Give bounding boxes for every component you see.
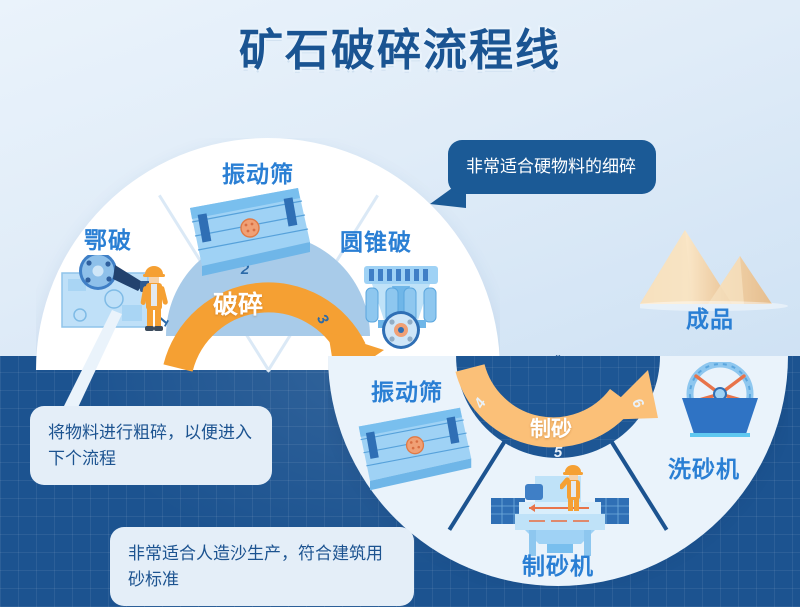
cone-crusher-icon — [352, 262, 450, 350]
callout-sand-making-text: 非常适合人造沙生产，符合建筑用砂标准 — [128, 544, 383, 589]
page-title: 矿石破碎流程线 — [0, 14, 800, 78]
callout-sand-making: 非常适合人造沙生产，符合建筑用砂标准 — [110, 527, 414, 606]
sand-pile-icon — [640, 222, 790, 312]
callout-cone-crusher-text: 非常适合硬物料的细碎 — [466, 157, 636, 176]
step-label-cone-crusher: 圆锥破 — [340, 223, 412, 257]
callout-cone-crusher: 非常适合硬物料的细碎 — [448, 140, 656, 194]
infographic-canvas: 矿石破碎流程线 成品 破碎 1 2 3 鄂破 — [0, 0, 800, 607]
worker-icon — [560, 462, 586, 512]
step-label-sand-washer: 洗砂机 — [668, 450, 740, 484]
crushing-arc-label: 破碎 — [213, 285, 263, 321]
product-label: 成品 — [686, 300, 734, 334]
jaw-note-leader — [52, 310, 122, 420]
step-label-sand-maker: 制砂机 — [522, 547, 594, 581]
vibrating-screen-icon — [186, 186, 314, 278]
step-label-vibrating-screen-bottom: 振动筛 — [371, 373, 443, 407]
vibrating-screen-icon — [355, 405, 475, 493]
step-number-5: 5 — [547, 441, 569, 463]
callout-jaw-crusher: 将物料进行粗碎，以便进入下个流程 — [30, 406, 272, 485]
step-label-jaw-crusher: 鄂破 — [84, 221, 132, 255]
sand-making-arc-label: 制砂 — [530, 413, 572, 443]
callout-jaw-crusher-text: 将物料进行粗碎，以便进入下个流程 — [48, 423, 252, 468]
sand-washer-icon — [660, 362, 780, 442]
worker-icon — [140, 262, 168, 334]
step-label-vibrating-screen-top: 振动筛 — [222, 155, 294, 189]
